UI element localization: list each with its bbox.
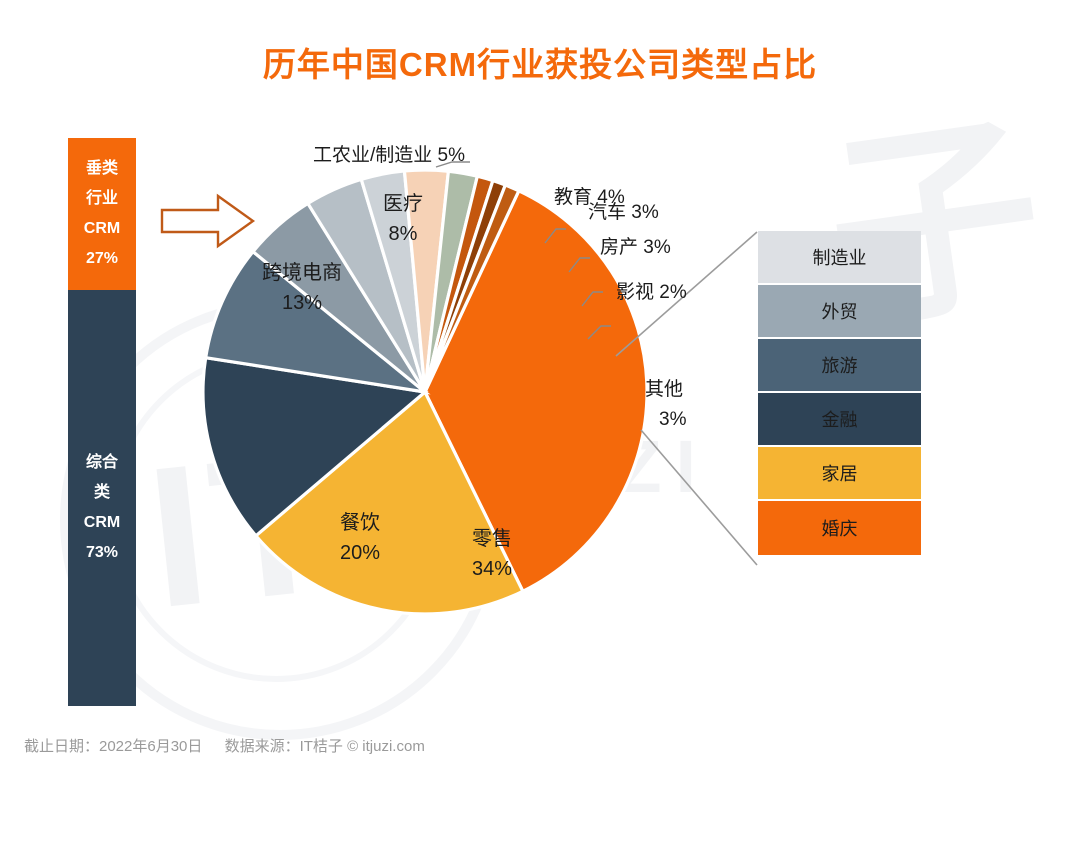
- bar-label-line: 类: [94, 478, 110, 508]
- legend-label: 婚庆: [822, 515, 858, 541]
- legend-label: 旅游: [822, 352, 858, 378]
- footer-cutoff-date: 截止日期：2022年6月30日: [24, 738, 202, 755]
- group-stacked-bar: 垂类 行业 CRM 27% 综合 类 CRM 73%: [68, 138, 136, 706]
- pie-label-automobile: 汽车 3%: [588, 198, 659, 228]
- pie-label-catering: 餐饮 20%: [312, 508, 408, 568]
- chart-page: 子 IT ITJUZI 历年中国CRM行业获投公司类型占比 垂类 行业 CRM …: [0, 0, 1080, 861]
- footer: 截止日期：2022年6月30日 数据来源：IT桔子 © itjuzi.com: [24, 735, 443, 756]
- bar-segment-vertical-crm: 垂类 行业 CRM 27%: [68, 138, 136, 290]
- legend-row[interactable]: 外贸: [758, 285, 921, 339]
- pie-label-film-tv: 影视 2%: [616, 278, 687, 308]
- right-arrow-icon: [160, 192, 256, 250]
- legend-row[interactable]: 旅游: [758, 339, 921, 393]
- legend-row[interactable]: 金融: [758, 393, 921, 447]
- page-title: 历年中国CRM行业获投公司类型占比: [0, 38, 1080, 86]
- bar-label-line: CRM: [84, 214, 120, 244]
- footer-source: 数据来源：IT桔子 © itjuzi.com: [225, 738, 425, 755]
- bar-label-line: 综合: [86, 448, 118, 478]
- bar-value-vertical-crm: 27%: [86, 244, 118, 274]
- bar-segment-general-crm: 综合 类 CRM 73%: [68, 290, 136, 706]
- pie-label-other: 其他 3%: [645, 375, 715, 435]
- pie-label-retail: 零售 34%: [402, 524, 582, 584]
- bar-value-general-crm: 73%: [86, 538, 118, 568]
- pie-label-real-estate: 房产 3%: [600, 233, 671, 263]
- legend-row[interactable]: 家居: [758, 447, 921, 501]
- pie-label-industry-manufacturing: 工农业/制造业 5%: [313, 141, 465, 171]
- legend-row[interactable]: 制造业: [758, 231, 921, 285]
- other-breakdown-legend: 制造业 外贸 旅游 金融 家居 婚庆: [758, 231, 921, 555]
- legend-label: 外贸: [822, 298, 858, 324]
- legend-label: 家居: [822, 460, 858, 486]
- bar-label-line: CRM: [84, 508, 120, 538]
- callout-line-bottom: [641, 430, 757, 565]
- bar-label-line: 行业: [86, 184, 118, 214]
- legend-row[interactable]: 婚庆: [758, 501, 921, 555]
- pie-label-cross-border-ecommerce: 跨境电商 13%: [222, 258, 382, 318]
- bar-label-line: 垂类: [86, 154, 118, 184]
- legend-label: 金融: [822, 406, 858, 432]
- pie-label-healthcare: 医疗 8%: [358, 189, 448, 249]
- legend-label: 制造业: [813, 244, 867, 270]
